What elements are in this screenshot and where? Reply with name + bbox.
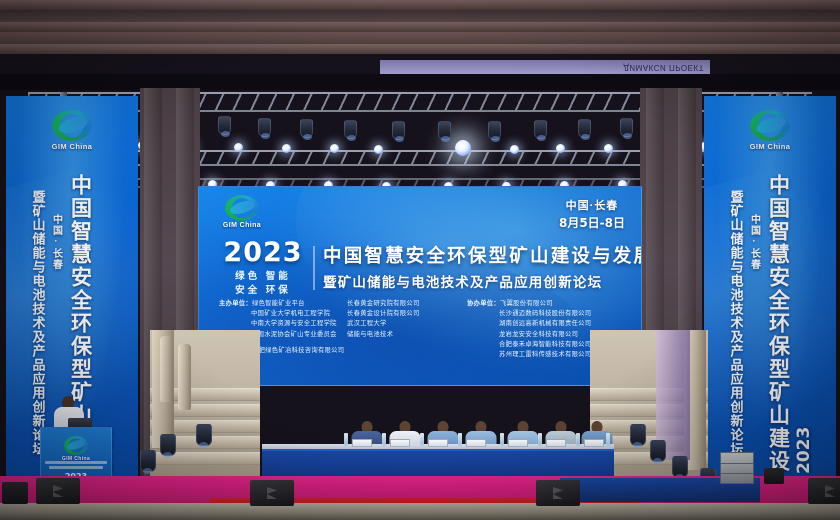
moving-head-light <box>344 120 357 139</box>
organizer-value: 合肥绿色矿冶科技咨询有限公司 <box>252 347 344 354</box>
floor-moving-light <box>140 450 156 472</box>
logo-wordmark: GIM China <box>211 222 273 229</box>
banner-title: 中国智慧安全环保型矿山建设与发展大会 <box>763 174 793 474</box>
host-item: 长春黄金设计院有限公司 <box>347 309 467 319</box>
event-credits: 主办单位：绿色智能矿业平台 中国矿业大学机电工程学院 中南大学资源与安全工程学院… <box>219 299 629 360</box>
coorg-item: 湖南创远高新机械有限责任公司 <box>499 319 627 329</box>
gim-china-logo: GIM China <box>54 436 98 462</box>
floor-moving-light <box>650 440 666 462</box>
water-bottle <box>420 433 424 446</box>
stage-monitor <box>36 478 80 504</box>
water-bottle <box>606 433 610 446</box>
coorg-item: 飞翼股份有限公司 <box>500 300 553 307</box>
host-item: 储能与电池技术 <box>347 330 467 340</box>
stage-light <box>556 144 565 153</box>
event-title-block: 中国智慧安全环保型矿山建设与发展大会 暨矿山储能与电池技术及产品应用创新论坛 <box>323 245 642 291</box>
gim-china-logo: GIM China <box>42 110 102 151</box>
coorg-label-row: 协办单位：飞翼股份有限公司 <box>467 299 627 309</box>
coorg-item: 长沙通迈数码科技股份有限公司 <box>499 309 627 319</box>
subwoofer <box>764 468 784 484</box>
name-card <box>584 439 604 447</box>
slogan-line-2: 安全 环保 <box>215 284 311 298</box>
name-card <box>352 439 372 447</box>
moving-head-light <box>534 120 547 139</box>
stage-light <box>234 143 243 152</box>
slogan-line-1: 绿色 智能 <box>215 270 311 284</box>
stone-baluster <box>160 336 173 402</box>
water-bottle <box>344 433 348 446</box>
ceiling <box>0 0 840 52</box>
stage-light <box>374 145 383 154</box>
stage-monitor <box>536 480 580 506</box>
stage-light <box>510 145 519 154</box>
stage-monitor <box>808 478 840 504</box>
event-date-block: 中国·长春 8月5日-8日 <box>559 199 625 232</box>
water-bottle <box>576 433 580 446</box>
banner-vertical-text: 2023 中国智慧安全环保型矿山建设与发展大会 中国·长春 暨矿山储能与电池技术… <box>704 174 836 474</box>
host-item: 绿色智能矿业平台 <box>252 300 305 307</box>
ceiling-beam <box>0 22 840 32</box>
moving-head-light <box>258 118 271 137</box>
stage-light <box>282 144 291 153</box>
gim-china-logo: GIM China <box>211 195 273 229</box>
event-title-main: 中国智慧安全环保型矿山建设与发展大会 <box>323 245 642 266</box>
water-bottle <box>500 433 504 446</box>
moving-head-light <box>392 121 405 140</box>
water-bottle <box>382 433 386 446</box>
name-card <box>546 439 566 447</box>
name-card <box>508 439 528 447</box>
moving-head-light <box>218 116 231 135</box>
equipment-case <box>720 452 754 484</box>
name-card <box>428 439 448 447</box>
podium-title-line <box>45 461 107 464</box>
title-divider <box>313 246 315 290</box>
event-year-block: 2023 绿色 智能 安全 环保 <box>215 239 311 298</box>
gim-logo-mark <box>64 436 88 455</box>
stage-monitor <box>250 480 294 506</box>
host-item: 中国矿业大学机电工程学院 <box>251 309 347 319</box>
floor-moving-light <box>160 434 176 456</box>
host-item: 中国水泥协会矿山专业委员会 <box>251 330 347 340</box>
event-year: 2023 <box>215 239 311 266</box>
ceiling-banner-text: ДИМАКСИ ПРОЕКТ <box>380 60 710 74</box>
gim-china-logo: GIM China <box>740 110 800 151</box>
water-bottle <box>458 433 462 446</box>
coorganizer-label: 协办单位： <box>467 300 500 307</box>
foreground-floor <box>0 503 840 520</box>
floor-moving-light <box>672 456 688 478</box>
floor-moving-light <box>196 424 212 446</box>
main-led-screen: GIM China 中国·长春 8月5日-8日 2023 绿色 智能 安全 环保… <box>198 186 642 386</box>
moving-head-light <box>300 119 313 138</box>
host-column-2: 长春黄金研究院有限公司 长春黄金设计院有限公司 武汉工程大学 储能与电池技术 <box>347 299 467 360</box>
logo-wordmark: GIM China <box>42 142 102 151</box>
moving-head-light <box>620 118 633 137</box>
gim-logo-mark <box>750 110 790 141</box>
ceiling-beam <box>0 0 840 10</box>
podium-title-line <box>49 466 103 469</box>
moving-head-light <box>438 121 451 140</box>
host-label-row: 主办单位：绿色智能矿业平台 <box>219 299 347 309</box>
event-dates: 8月5日-8日 <box>559 215 625 232</box>
banner-subtitle: 暨矿山储能与电池技术及产品应用创新论坛 <box>727 190 746 474</box>
event-location: 中国·长春 <box>559 199 625 215</box>
host-label: 主办单位： <box>219 300 252 307</box>
floor-moving-light <box>630 424 646 446</box>
host-item: 长春黄金研究院有限公司 <box>347 299 467 309</box>
water-bottle <box>538 433 542 446</box>
stage-light <box>330 144 339 153</box>
stage-light <box>604 144 613 153</box>
name-card <box>466 439 486 447</box>
logo-wordmark: GIM China <box>740 142 800 151</box>
moving-head-light <box>488 121 501 140</box>
event-title-sub: 暨矿山储能与电池技术及产品应用创新论坛 <box>323 271 642 291</box>
banner-year: 2023 <box>794 176 814 474</box>
stone-baluster <box>178 344 191 410</box>
banner-location: 中国·长春 <box>747 214 762 474</box>
gim-logo-mark <box>225 195 259 221</box>
name-card <box>390 439 410 447</box>
ceiling-shadow-band <box>0 74 840 90</box>
event-slogan: 绿色 智能 安全 环保 <box>215 270 311 298</box>
moving-head-light <box>578 119 591 138</box>
ceiling-beam <box>0 44 840 54</box>
conference-stage-scene: ДИМАКСИ ПРОЕКТ <box>0 0 840 520</box>
host-item: 武汉工程大学 <box>347 319 467 329</box>
host-item: 中南大学资源与安全工程学院 <box>251 319 347 329</box>
event-title-row: 2023 绿色 智能 安全 环保 中国智慧安全环保型矿山建设与发展大会 暨矿山储… <box>215 239 633 298</box>
side-banner-right: GIM China 2023 中国智慧安全环保型矿山建设与发展大会 中国·长春 … <box>704 96 836 482</box>
stage-light-bright <box>455 140 471 156</box>
subwoofer <box>2 482 28 504</box>
gim-logo-mark <box>52 110 92 141</box>
